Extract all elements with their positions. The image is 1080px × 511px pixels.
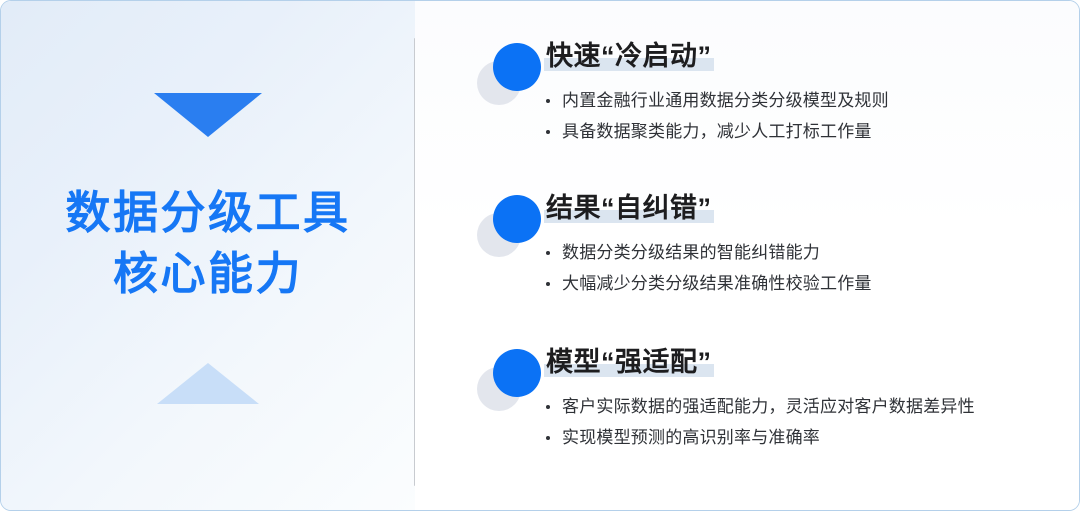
capability-heading: 结果“自纠错” — [544, 189, 714, 227]
page-title: 数据分级工具 核心能力 — [1, 182, 415, 304]
marker-circle-icon — [493, 195, 541, 243]
marker-circle-icon — [493, 43, 541, 91]
capability-body: 模型“强适配” 客户实际数据的强适配能力，灵活应对客户数据差异性 实现模型预测的… — [544, 343, 1080, 453]
list-item: 实现模型预测的高识别率与准确率 — [544, 422, 1080, 453]
page-title-line-2: 核心能力 — [1, 243, 415, 304]
bullet-marker-icon — [477, 349, 539, 411]
bullet-marker-icon — [477, 195, 539, 257]
capability-slide: 数据分级工具 核心能力 快速“冷启动” 内置金融行业通用数据分类分级模型及规则 … — [0, 0, 1080, 511]
list-item: 内置金融行业通用数据分类分级模型及规则 — [544, 85, 1080, 116]
capability-heading: 快速“冷启动” — [544, 37, 714, 75]
capability-body: 快速“冷启动” 内置金融行业通用数据分类分级模型及规则 具备数据聚类能力，减少人… — [544, 37, 1080, 147]
triangle-up-icon — [157, 363, 259, 404]
list-item: 数据分类分级结果的智能纠错能力 — [544, 237, 1080, 268]
marker-circle-icon — [493, 349, 541, 397]
capabilities-list-panel: 快速“冷启动” 内置金融行业通用数据分类分级模型及规则 具备数据聚类能力，减少人… — [415, 1, 1080, 511]
bullet-marker-icon — [477, 43, 539, 105]
page-title-line-1: 数据分级工具 — [1, 182, 415, 243]
capability-bullet-list: 客户实际数据的强适配能力，灵活应对客户数据差异性 实现模型预测的高识别率与准确率 — [544, 391, 1080, 453]
list-item: 客户实际数据的强适配能力，灵活应对客户数据差异性 — [544, 391, 1080, 422]
capability-body: 结果“自纠错” 数据分类分级结果的智能纠错能力 大幅减少分类分级结果准确性校验工… — [544, 189, 1080, 299]
capability-bullet-list: 数据分类分级结果的智能纠错能力 大幅减少分类分级结果准确性校验工作量 — [544, 237, 1080, 299]
list-item: 具备数据聚类能力，减少人工打标工作量 — [544, 116, 1080, 147]
triangle-down-icon — [154, 93, 262, 137]
capability-heading: 模型“强适配” — [544, 343, 714, 381]
capability-bullet-list: 内置金融行业通用数据分类分级模型及规则 具备数据聚类能力，减少人工打标工作量 — [544, 85, 1080, 147]
left-title-panel: 数据分级工具 核心能力 — [1, 1, 415, 511]
list-item: 大幅减少分类分级结果准确性校验工作量 — [544, 268, 1080, 299]
